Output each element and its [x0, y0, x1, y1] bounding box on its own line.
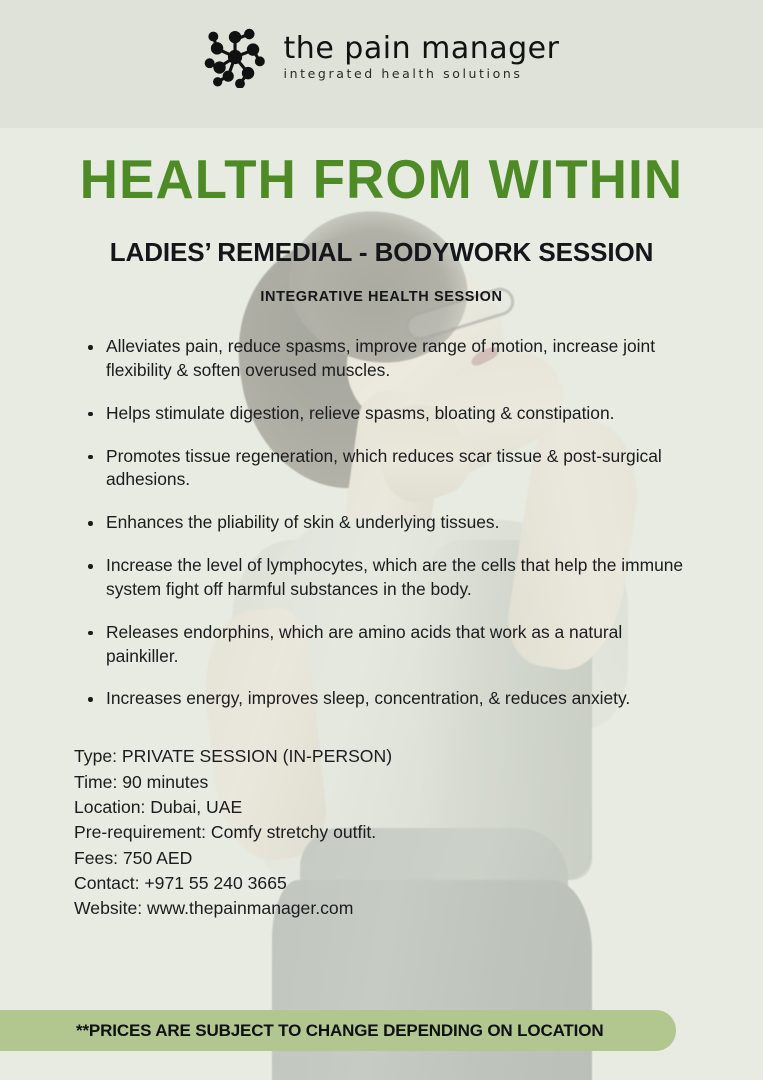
list-item: Enhances the pliability of skin & underl…: [88, 511, 687, 535]
poster: the pain manager integrated health solut…: [0, 0, 763, 1080]
list-item: Helps stimulate digestion, relieve spasm…: [88, 402, 687, 426]
session-subtitle: LADIES’ REMEDIAL - BODYWORK SESSION: [0, 237, 763, 268]
detail-time: Time: 90 minutes: [74, 770, 763, 795]
list-item: Increases energy, improves sleep, concen…: [88, 687, 687, 711]
list-item: Releases endorphins, which are amino aci…: [88, 621, 687, 669]
session-kicker: INTEGRATIVE HEALTH SESSION: [0, 289, 763, 305]
list-item: Increase the level of lymphocytes, which…: [88, 554, 687, 602]
detail-website: Website: www.thepainmanager.com: [74, 896, 763, 921]
detail-pre-requirement: Pre-requirement: Comfy stretchy outfit.: [74, 820, 763, 845]
benefits-list: Alleviates pain, reduce spasms, improve …: [0, 335, 763, 711]
molecule-radial-icon: [204, 26, 266, 88]
detail-location: Location: Dubai, UAE: [74, 795, 763, 820]
detail-fees: Fees: 750 AED: [74, 846, 763, 871]
header-band: the pain manager integrated health solut…: [0, 0, 763, 128]
page-title: HEALTH FROM WITHIN: [15, 152, 747, 207]
footer-price-disclaimer-banner: **PRICES ARE SUBJECT TO CHANGE DEPENDING…: [0, 1010, 676, 1051]
brand-logo: the pain manager integrated health solut…: [204, 26, 560, 88]
list-item: Promotes tissue regeneration, which redu…: [88, 445, 687, 493]
footer-disclaimer-text: **PRICES ARE SUBJECT TO CHANGE DEPENDING…: [0, 1021, 603, 1041]
detail-contact: Contact: +971 55 240 3665: [74, 871, 763, 896]
brand-logo-text: the pain manager integrated health solut…: [284, 34, 560, 81]
session-details: Type: PRIVATE SESSION (IN-PERSON) Time: …: [0, 730, 763, 921]
brand-tagline: integrated health solutions: [284, 68, 560, 81]
poster-content: HEALTH FROM WITHIN LADIES’ REMEDIAL - BO…: [0, 128, 763, 922]
detail-type: Type: PRIVATE SESSION (IN-PERSON): [74, 744, 763, 769]
brand-name: the pain manager: [284, 34, 560, 64]
list-item: Alleviates pain, reduce spasms, improve …: [88, 335, 687, 383]
